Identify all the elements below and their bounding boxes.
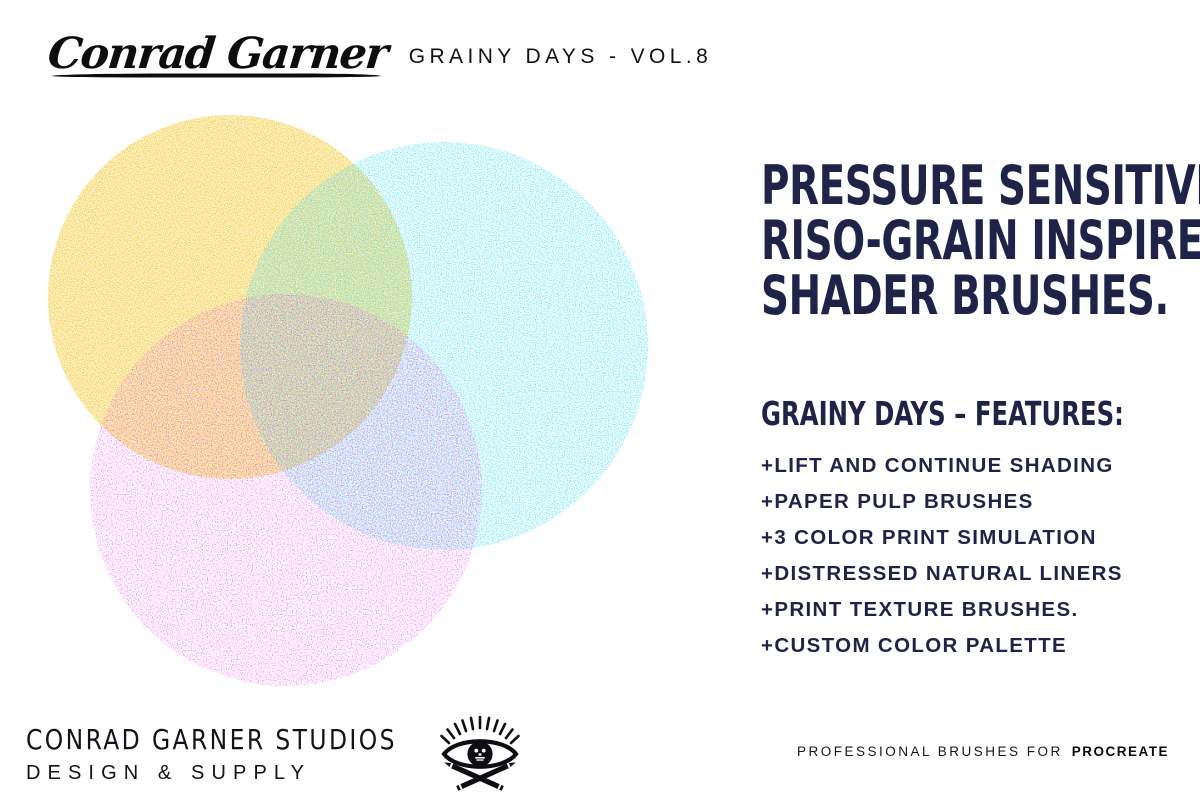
headline-line-1: PRESSURE SENSITIVE	[761, 158, 1089, 213]
platform-footer: PROFESSIONAL BRUSHES FOR PROCREATE	[797, 744, 1169, 759]
features-heading: GRAINY DAYS – FEATURES:	[761, 397, 1097, 430]
headline-line-2: RISO-GRAIN INSPIRED	[761, 213, 1089, 268]
features-list: +LIFT AND CONTINUE SHADING +PAPER PULP B…	[761, 456, 1171, 657]
studio-name: CONRAD GARNER STUDIOS	[26, 726, 397, 754]
feature-item: +PAPER PULP BRUSHES	[761, 492, 1171, 513]
eye-with-crossed-pencils-icon	[437, 716, 523, 792]
platform-prefix: PROFESSIONAL BRUSHES FOR	[797, 744, 1063, 759]
venn-svg	[0, 78, 720, 718]
venn-diagram	[0, 78, 720, 718]
studio-footer: CONRAD GARNER STUDIOS DESIGN & SUPPLY	[26, 716, 523, 792]
feature-item: +CUSTOM COLOR PALETTE	[761, 636, 1171, 657]
feature-item: +PRINT TEXTURE BRUSHES.	[761, 600, 1171, 621]
studio-lockup: CONRAD GARNER STUDIOS DESIGN & SUPPLY	[26, 726, 425, 783]
studio-tagline: DESIGN & SUPPLY	[26, 763, 425, 783]
platform-name: PROCREATE	[1072, 744, 1169, 759]
copy-column: PRESSURE SENSITIVE RISO-GRAIN INSPIRED S…	[761, 158, 1171, 672]
product-title: GRAINY DAYS - VOL.8	[409, 45, 712, 75]
headline-line-3: SHADER BRUSHES.	[761, 268, 1089, 323]
venn-circle-magenta	[90, 294, 482, 686]
feature-item: +DISTRESSED NATURAL LINERS	[761, 564, 1171, 585]
poster-canvas: Conrad Garner GRAINY DAYS - VOL.8	[0, 0, 1200, 800]
feature-item: +LIFT AND CONTINUE SHADING	[761, 456, 1171, 477]
header: Conrad Garner GRAINY DAYS - VOL.8	[48, 34, 712, 75]
feature-item: +3 COLOR PRINT SIMULATION	[761, 528, 1171, 549]
brand-logotype: Conrad Garner	[46, 34, 389, 75]
